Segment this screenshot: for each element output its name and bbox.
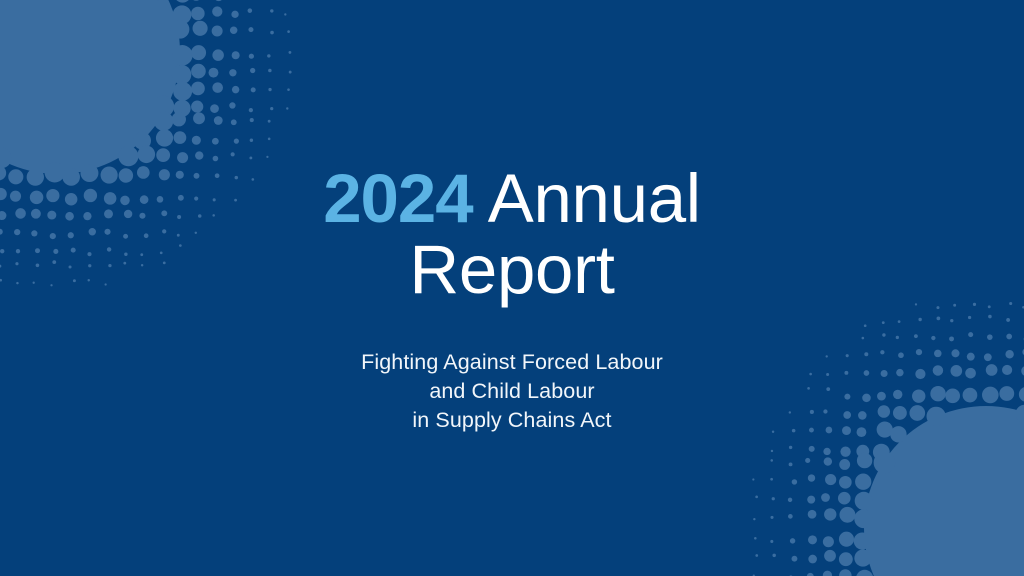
subtitle-line-3: in Supply Chains Act	[252, 406, 772, 435]
title-year: 2024	[323, 160, 473, 237]
page-subtitle: Fighting Against Forced Labour and Child…	[252, 348, 772, 434]
report-cover-slide: 2024 Annual Report Fighting Against Forc…	[0, 0, 1024, 576]
cover-text-block: 2024 Annual Report Fighting Against Forc…	[0, 0, 1024, 576]
page-title: 2024 Annual Report	[312, 163, 712, 305]
subtitle-line-1: Fighting Against Forced Labour	[252, 348, 772, 377]
subtitle-line-2: and Child Labour	[252, 377, 772, 406]
